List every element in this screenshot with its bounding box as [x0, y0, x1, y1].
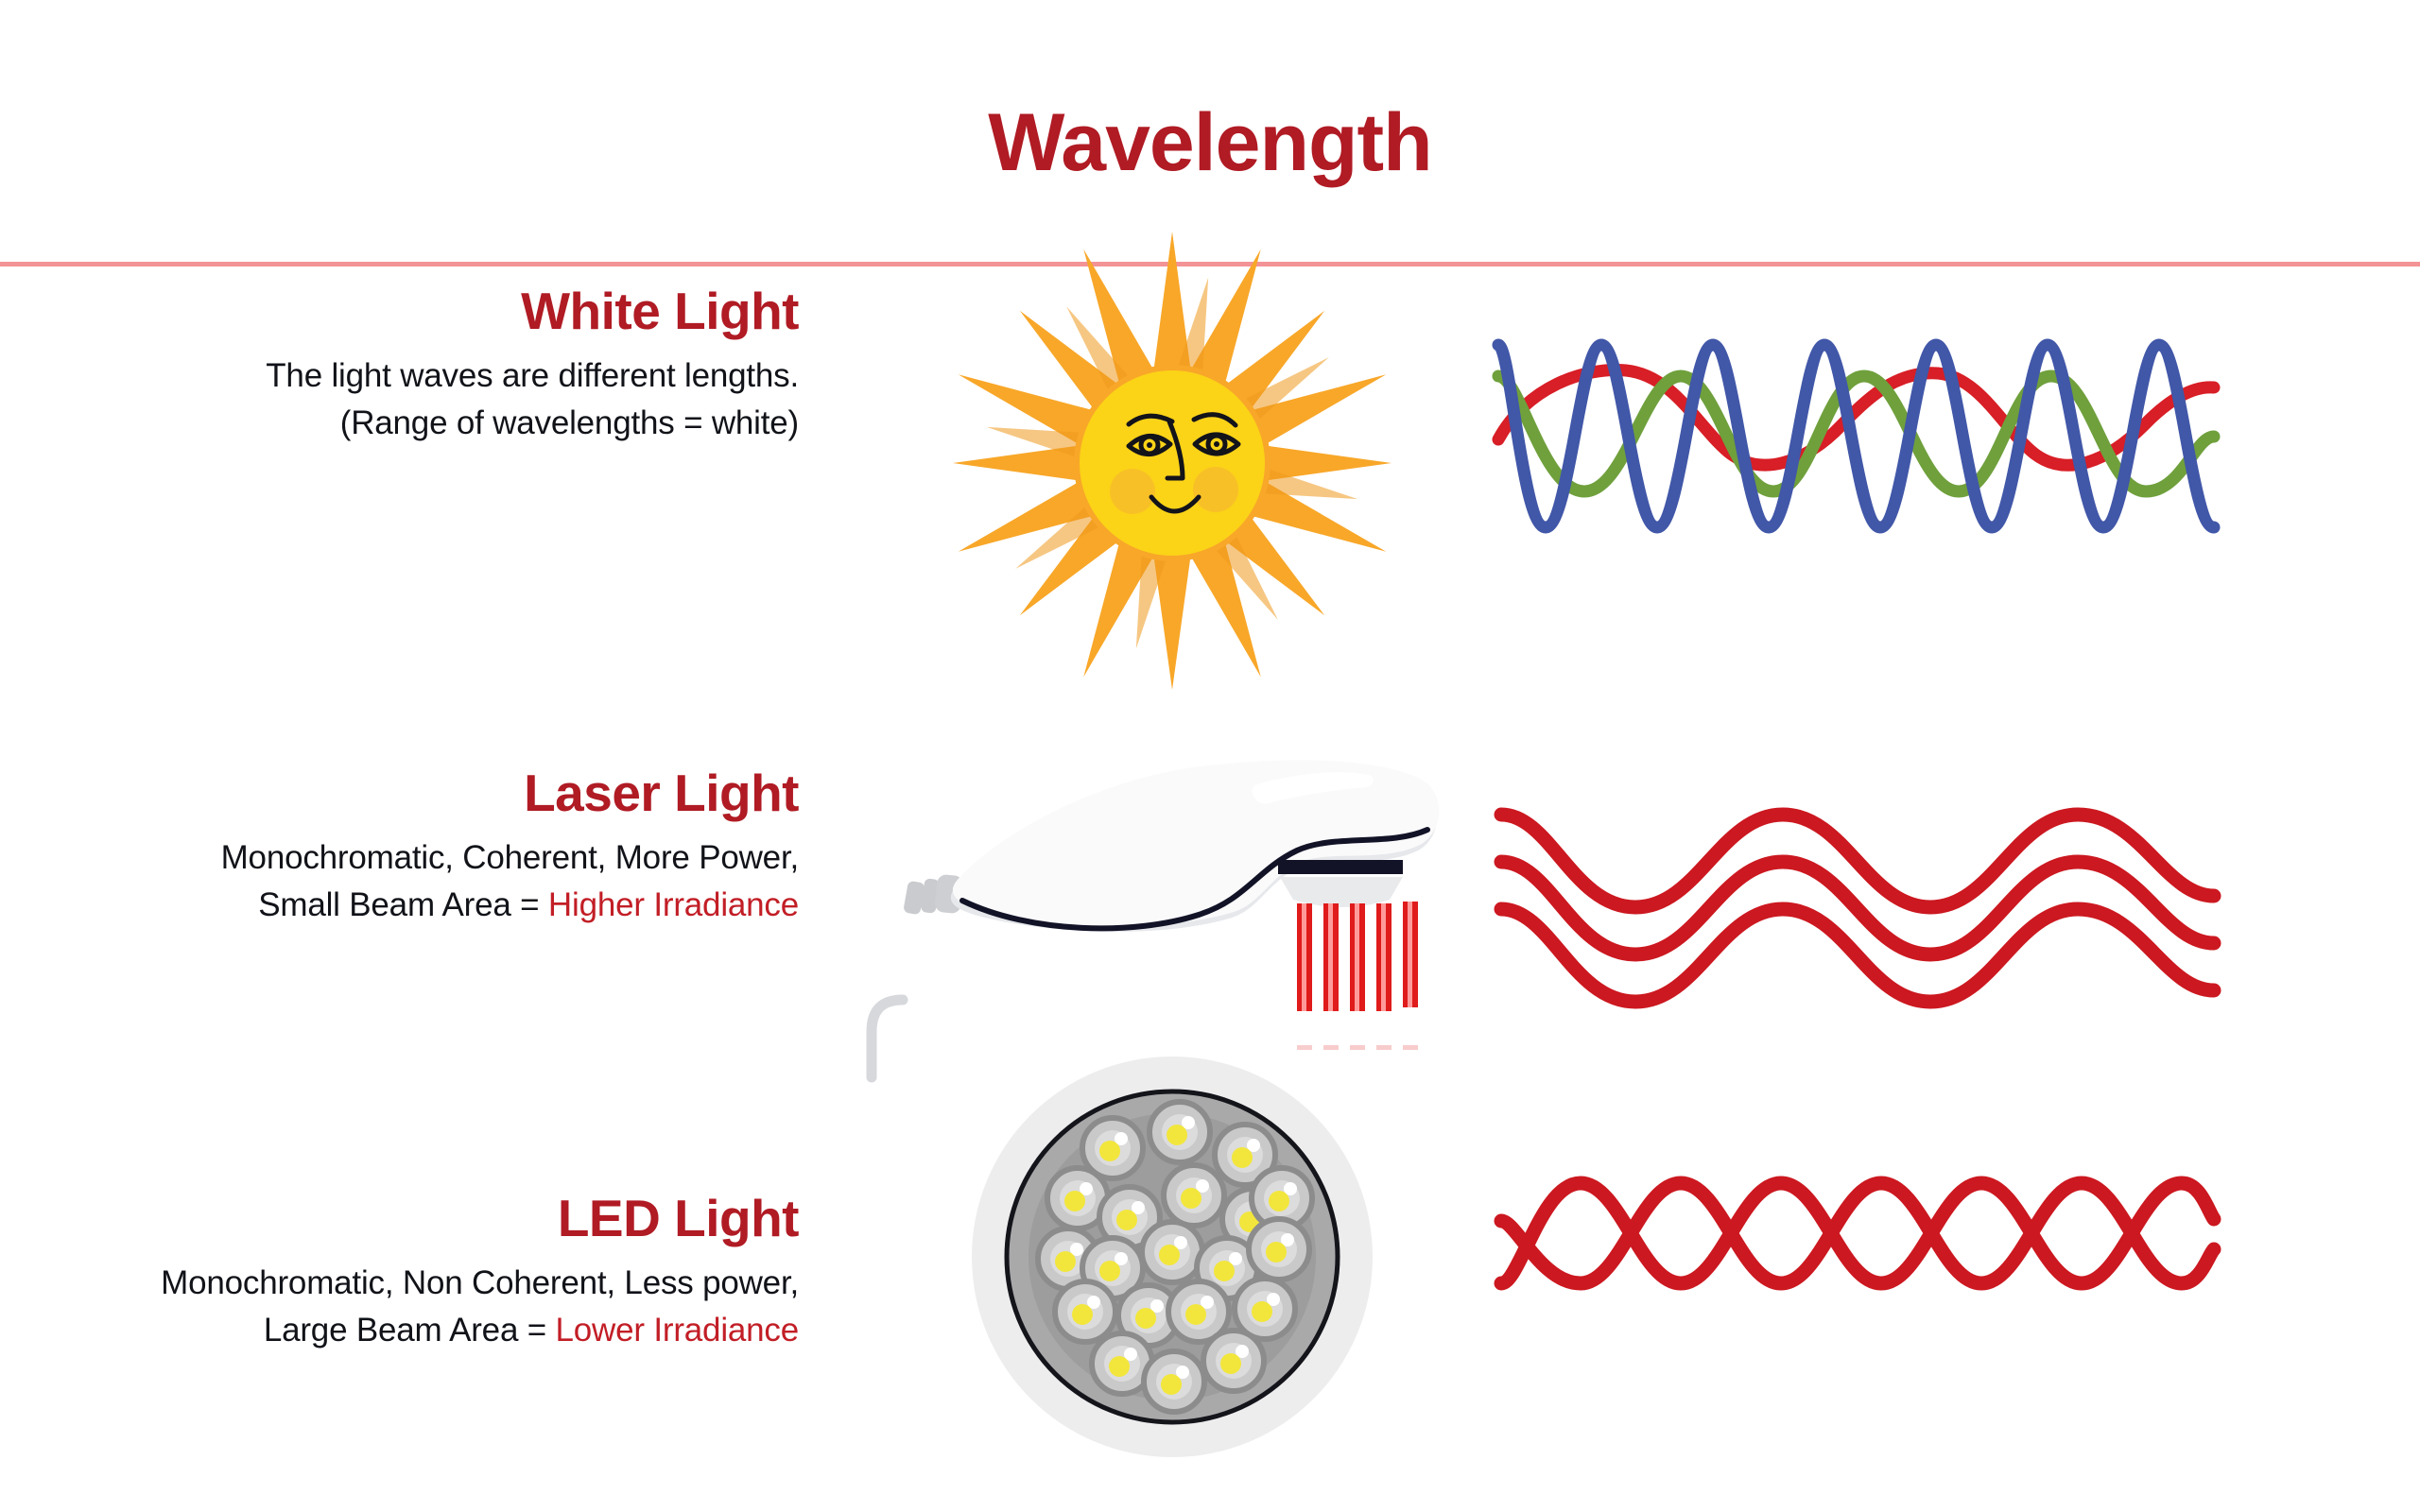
laser-beam-core	[1355, 903, 1359, 1011]
led-cell	[1149, 1102, 1210, 1162]
led-cell	[1249, 1219, 1309, 1280]
white-light-line-2: (Range of wavelengths = white)	[0, 400, 799, 447]
laser-light-line-2: Small Beam Area = Higher Irradiance	[0, 882, 799, 929]
led-cell	[1142, 1222, 1202, 1282]
laser-light-wave-graphic	[1494, 784, 2240, 1058]
white-light-line-1: The light waves are different lengths.	[0, 352, 799, 400]
laser-beams	[1297, 902, 1418, 1011]
laser-cable	[872, 1000, 903, 1077]
section-white-light: White Light The light waves are differen…	[0, 283, 2420, 756]
led-light-wave-graphic	[1494, 1162, 2240, 1361]
white-light-wave	[1494, 293, 2221, 539]
sun-cheek-left	[1110, 469, 1155, 514]
led-illustration	[964, 1049, 1550, 1465]
page-title: Wavelength	[0, 102, 2420, 183]
laser-light-accent: Higher Irradiance	[548, 886, 799, 923]
laser-light-wave	[1494, 784, 2221, 1058]
led-light-line-1: Monochromatic, Non Coherent, Less power,	[0, 1260, 799, 1307]
laser-beam-core	[1408, 902, 1412, 1007]
led-light-wave	[1494, 1162, 2221, 1361]
laser-light-heading: Laser Light	[0, 765, 799, 821]
sun-pupil-right	[1214, 441, 1219, 447]
laser-emitter-lens	[1280, 877, 1403, 907]
white-light-line-2-text: (Range of wavelengths = white)	[340, 404, 799, 441]
led-light-text-block: LED Light Monochromatic, Non Coherent, L…	[0, 1191, 799, 1354]
laser-light-line-2-text: Small Beam Area =	[258, 886, 548, 923]
led-cell	[1144, 1351, 1204, 1412]
led-light-line-1-text: Monochromatic, Non Coherent, Less power,	[161, 1264, 799, 1301]
sun-face-disc	[1080, 370, 1265, 556]
laser-beam-core	[1328, 903, 1333, 1011]
laser-beam-core	[1381, 903, 1386, 1011]
white-light-line-1-text: The light waves are different lengths.	[266, 357, 799, 394]
white-light-text-block: White Light The light waves are differen…	[0, 283, 799, 447]
led-light-line-2-text: Large Beam Area =	[264, 1312, 556, 1349]
laser-light-line-1-text: Monochromatic, Coherent, More Power,	[221, 839, 799, 876]
sun-pupil-left	[1147, 442, 1152, 448]
white-light-heading: White Light	[0, 283, 799, 339]
sun-icon	[879, 217, 1465, 709]
led-lamp-icon	[964, 1049, 1380, 1465]
led-light-line-2: Large Beam Area = Lower Irradiance	[0, 1307, 799, 1354]
laser-emitter-head	[1278, 860, 1403, 907]
sun-illustration	[879, 217, 1465, 709]
laser-light-line-1: Monochromatic, Coherent, More Power,	[0, 834, 799, 882]
laser-light-text-block: Laser Light Monochromatic, Coherent, Mor…	[0, 765, 799, 929]
laser-beam-core	[1302, 903, 1306, 1011]
led-cell	[1164, 1165, 1224, 1226]
led-light-accent: Lower Irradiance	[556, 1312, 800, 1349]
section-led-light: LED Light Monochromatic, Non Coherent, L…	[0, 1068, 2420, 1503]
laser-emitter-bar	[1278, 860, 1403, 874]
led-cell	[1055, 1281, 1115, 1342]
led-cell	[1203, 1331, 1264, 1391]
white-light-wave-graphic	[1494, 293, 2240, 539]
led-light-heading: LED Light	[0, 1191, 799, 1246]
sun-cheek-right	[1193, 467, 1238, 512]
